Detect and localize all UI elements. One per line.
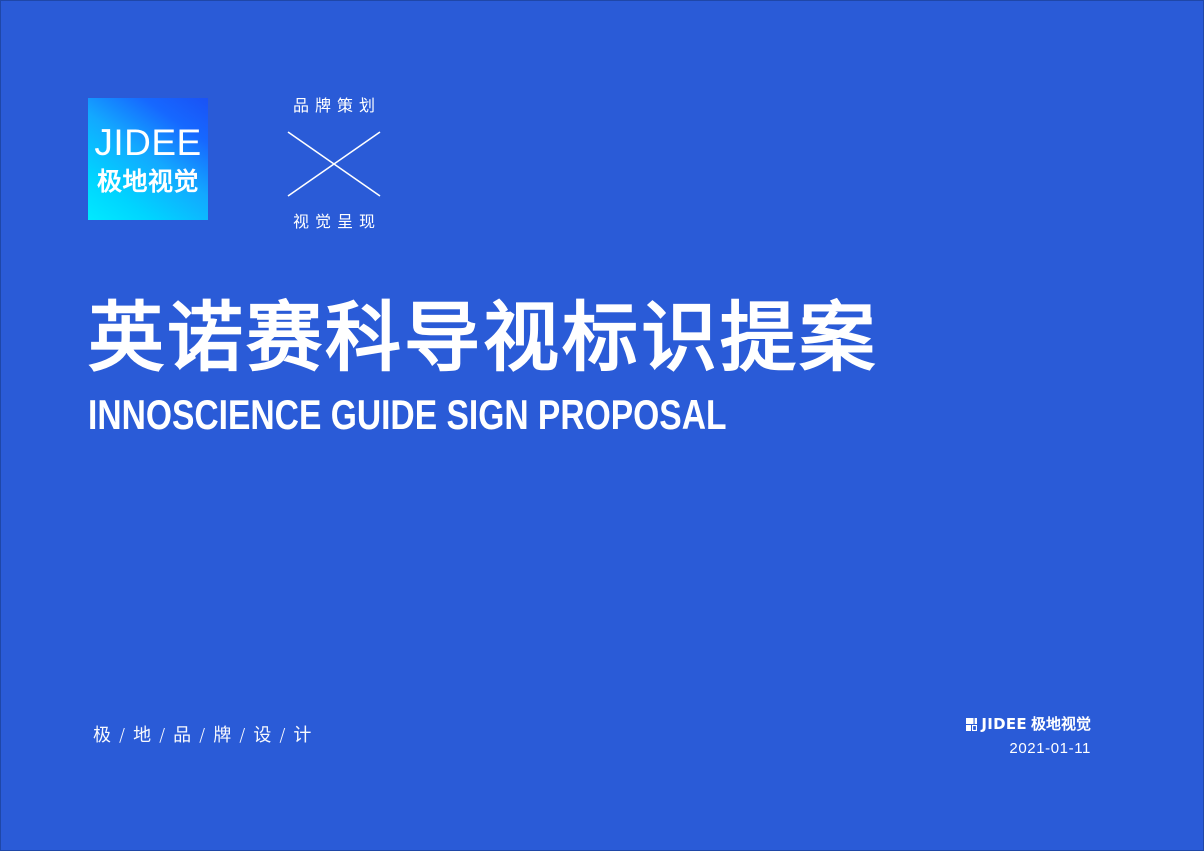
brand-tagline: 品牌策划 视觉呈现 [260, 98, 408, 230]
x-cross-icon [286, 130, 382, 198]
footer-credit-latin: JIDEE [981, 717, 1027, 732]
footer-tagline-char: 品 [173, 725, 193, 746]
footer-tagline: 极/地/品/牌/设/计 [93, 727, 313, 745]
footer-credit-chinese: 极地视觉 [1031, 717, 1091, 732]
page-title-chinese: 英诺赛科导视标识提案 [88, 298, 1088, 378]
footer-credit: JIDEE 极地视觉 [966, 717, 1091, 732]
brand-lockup: JIDEE 极地视觉 品牌策划 视觉呈现 [88, 98, 408, 230]
slide-canvas: JIDEE 极地视觉 品牌策划 视觉呈现 英诺赛科导视标识提案 INNOSCIE… [0, 0, 1204, 851]
footer-tagline-separator: / [153, 725, 173, 746]
footer-tagline-separator: / [233, 725, 253, 746]
footer-tagline-char: 地 [133, 725, 153, 746]
title-block: 英诺赛科导视标识提案 INNOSCIENCE GUIDE SIGN PROPOS… [88, 298, 1088, 438]
jidee-small-mark-icon [966, 718, 977, 731]
page-title-english: INNOSCIENCE GUIDE SIGN PROPOSAL [88, 392, 888, 438]
footer-date: 2021-01-11 [966, 741, 1091, 756]
jidee-logo-mark: JIDEE 极地视觉 [88, 98, 208, 220]
footer-credit-block: JIDEE 极地视觉 2021-01-11 [966, 717, 1091, 756]
tagline-bottom-text: 视觉呈现 [287, 214, 381, 230]
footer-tagline-char: 设 [253, 725, 273, 746]
footer-tagline-separator: / [273, 725, 293, 746]
footer-tagline-char: 计 [293, 725, 313, 746]
footer-tagline-separator: / [193, 725, 213, 746]
footer-tagline-separator: / [113, 725, 133, 746]
logo-latin-text: JIDEE [94, 124, 201, 161]
logo-chinese-text: 极地视觉 [97, 169, 199, 194]
footer-tagline-char: 牌 [213, 725, 233, 746]
footer-tagline-char: 极 [93, 725, 113, 746]
tagline-top-text: 品牌策划 [287, 98, 381, 114]
